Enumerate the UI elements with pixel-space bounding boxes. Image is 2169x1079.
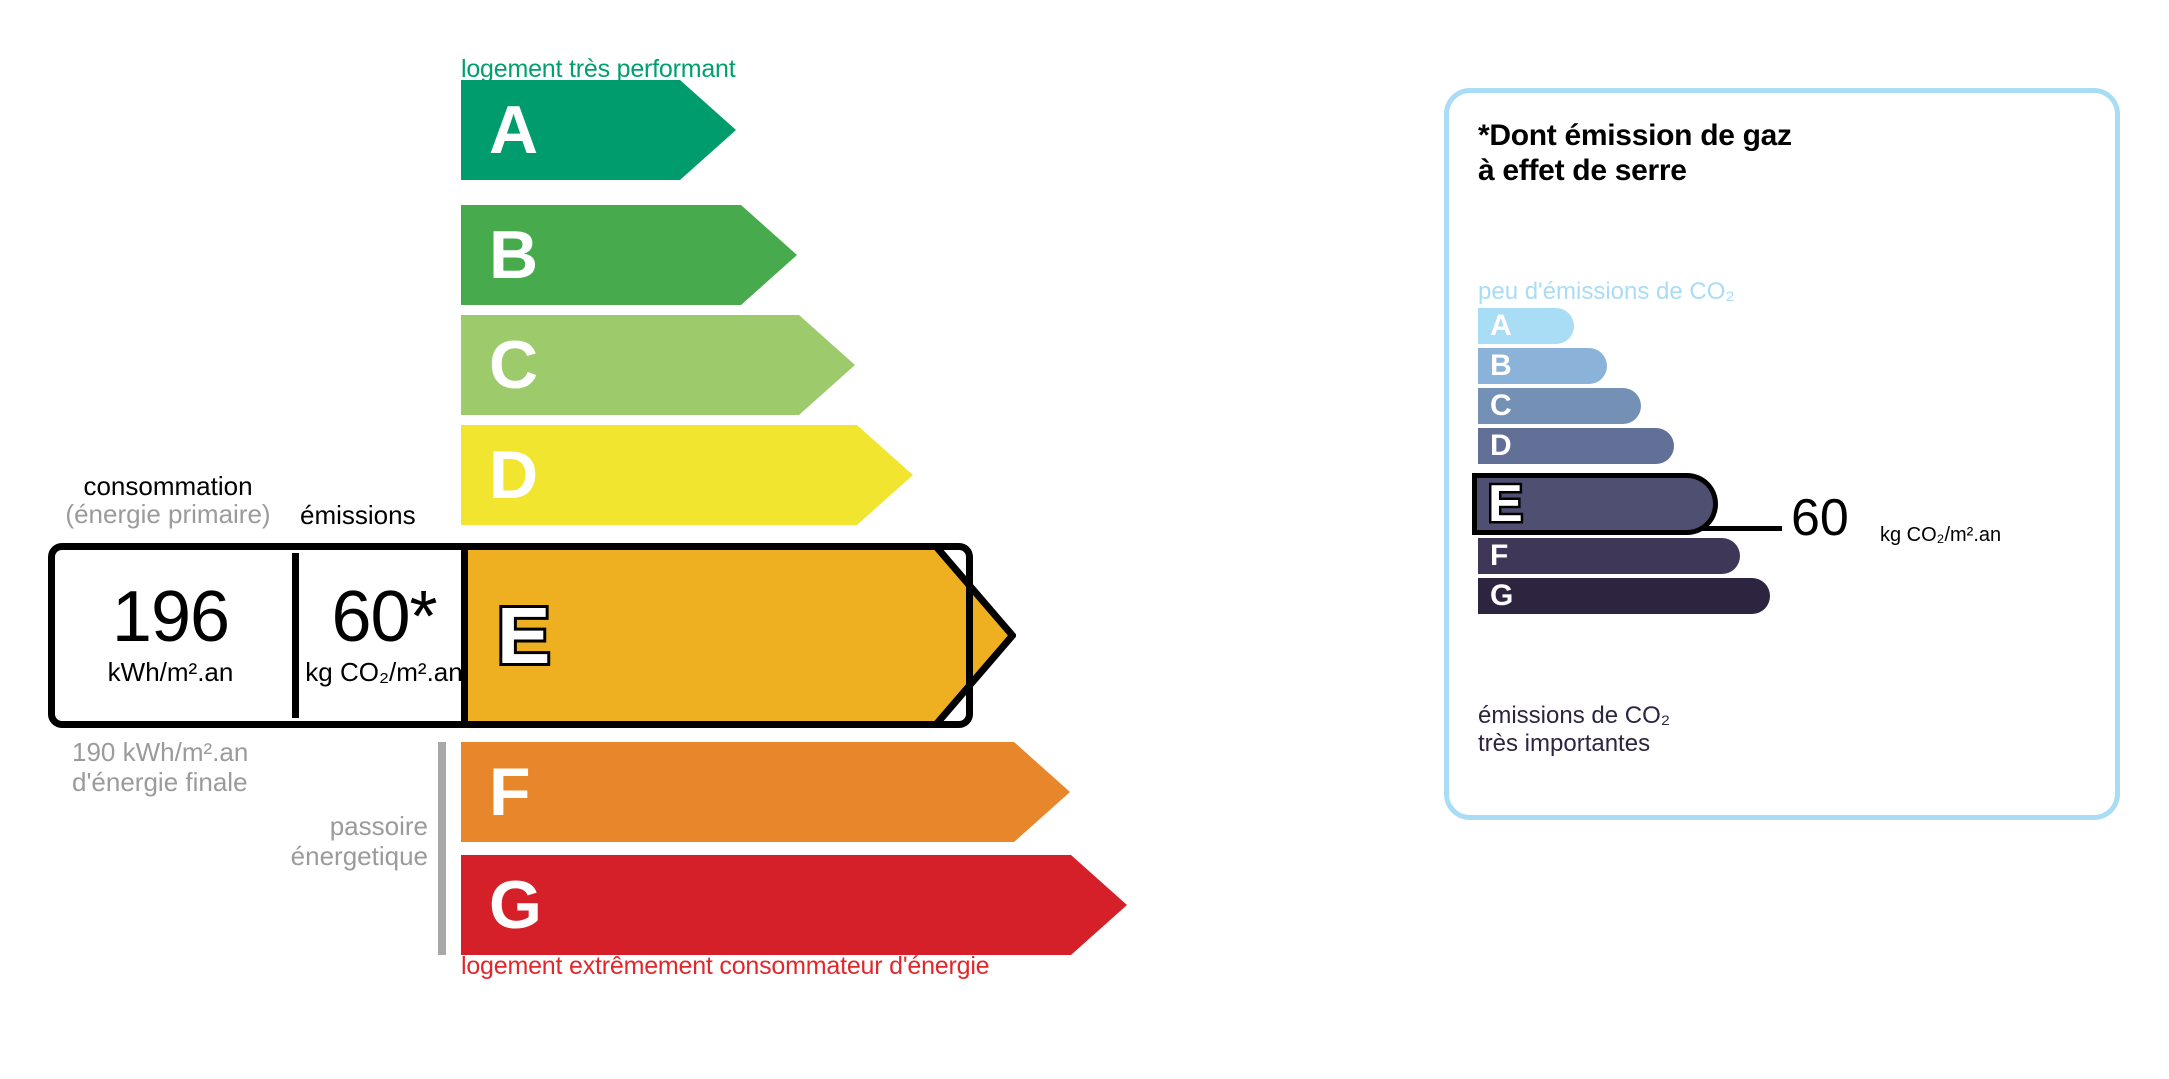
ges-callout-leader-line — [1700, 526, 1782, 531]
passoire-note: passoire énergetique — [196, 812, 428, 872]
ges-bar-letter-b: B — [1490, 351, 1512, 381]
ges-bar-fill-f — [1478, 538, 1740, 574]
scale-bottom-label: logement extrêmement consommateur d'éner… — [461, 952, 989, 981]
consumption-value-cell: 196 kWh/m².an — [58, 543, 283, 728]
energy-bar-g: G — [461, 855, 1127, 955]
ges-callout-value: 60 — [1791, 492, 1849, 544]
consumption-unit: kWh/m².an — [108, 657, 234, 688]
energy-bar-b: B — [461, 205, 797, 305]
energy-bar-f: F — [461, 742, 1070, 842]
passoire-indicator-bar — [438, 742, 446, 955]
value-box-divider — [292, 553, 299, 718]
energy-performance-panel: logement très performant ABCDEFG 196 kWh… — [0, 0, 1400, 1079]
ges-callout-unit: kg CO₂/m².an — [1880, 524, 2001, 547]
consumption-label-main: consommation — [83, 471, 252, 501]
energy-bar-c: C — [461, 315, 855, 415]
ges-panel: *Dont émission de gaz à effet de serre p… — [1444, 88, 2120, 820]
energy-bar-letter-f: F — [489, 758, 531, 826]
consumption-value: 196 — [112, 583, 229, 651]
emissions-label: émissions — [300, 500, 416, 531]
final-energy-line-2: d'énergie finale — [72, 768, 248, 798]
ges-bar-letter-a: A — [1490, 311, 1512, 341]
consumption-label: consommation (énergie primaire) — [58, 472, 278, 528]
ges-bar-letter-d: D — [1490, 431, 1512, 461]
ges-top-label: peu d'émissions de CO₂ — [1478, 278, 1735, 306]
ges-bottom-line-2: très importantes — [1478, 730, 1670, 758]
final-energy-line-1: 190 kWh/m².an — [72, 738, 248, 768]
energy-bar-d: D — [461, 425, 913, 525]
ges-bar-fill-g — [1478, 578, 1770, 614]
ges-bar-letter-f: F — [1490, 541, 1508, 571]
energy-bar-letter-b: B — [489, 221, 538, 289]
ges-title: *Dont émission de gaz à effet de serre — [1478, 118, 1792, 189]
consumption-label-sub: (énergie primaire) — [58, 500, 278, 528]
passoire-line-1: passoire — [196, 812, 428, 842]
ges-bar-letter-c: C — [1490, 391, 1512, 421]
emissions-unit: kg CO₂/m².an — [305, 657, 462, 688]
ges-title-line-2: à effet de serre — [1478, 153, 1792, 188]
ges-bar-letter-g: G — [1490, 581, 1513, 611]
emissions-value-cell: 60* kg CO₂/m².an — [294, 543, 474, 728]
ges-bottom-line-1: émissions de CO₂ — [1478, 702, 1670, 730]
energy-bar-letter-c: C — [489, 331, 538, 399]
ges-title-line-1: *Dont émission de gaz — [1478, 118, 1792, 153]
emissions-value: 60* — [331, 583, 436, 651]
ges-bottom-label: émissions de CO₂ très importantes — [1478, 702, 1670, 757]
energy-bar-letter-d: D — [489, 441, 538, 509]
energy-bar-a: A — [461, 80, 736, 180]
ges-bar-letter-e: E — [1488, 478, 1523, 530]
energy-bar-letter-g: G — [489, 871, 542, 939]
passoire-line-2: énergetique — [196, 842, 428, 872]
final-energy-note: 190 kWh/m².an d'énergie finale — [72, 738, 248, 798]
value-box: 196 kWh/m².an 60* kg CO₂/m².an — [48, 543, 973, 728]
energy-bar-letter-a: A — [489, 96, 538, 164]
